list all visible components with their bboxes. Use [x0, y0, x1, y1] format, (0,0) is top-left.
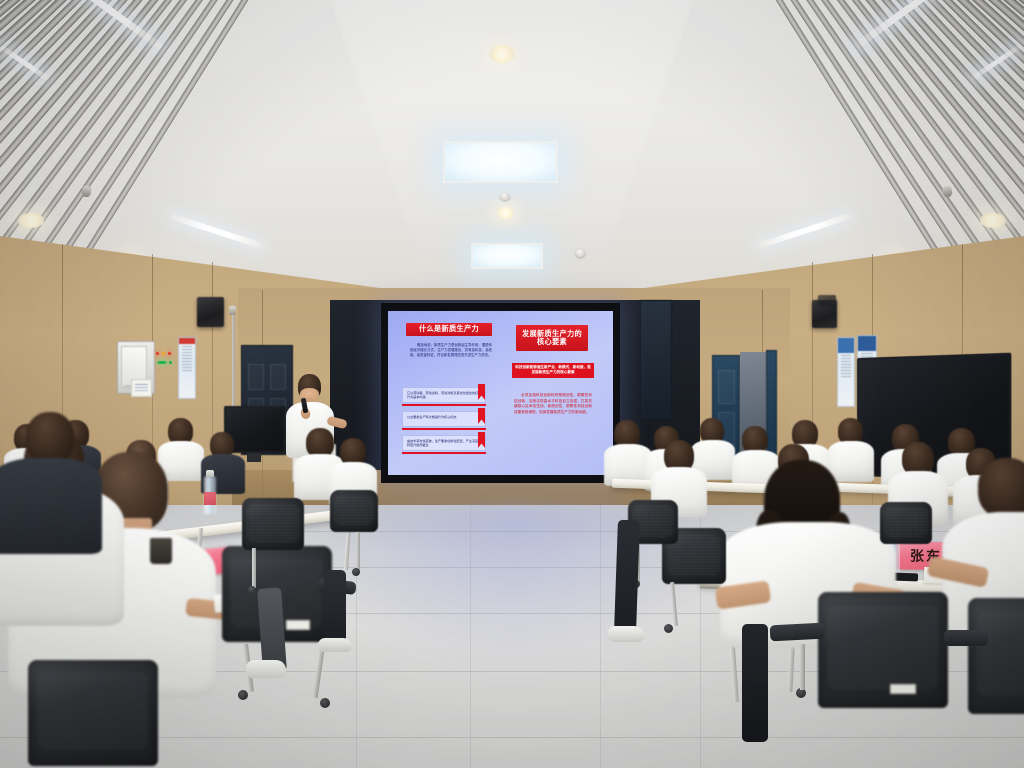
chair-right-5: [880, 502, 932, 546]
chair-leg: [356, 532, 360, 570]
projection-screen: 什么是新质生产力 概括地说，新质生产力是创新起主导作用，摆脱传统经济增长方式、生…: [381, 303, 620, 483]
slide-canvas: 什么是新质生产力 概括地说，新质生产力是创新起主导作用，摆脱传统经济增长方式、生…: [388, 311, 613, 475]
wall-speaker-right: [812, 300, 837, 328]
attendee-shoe: [246, 660, 286, 678]
attendee-right-row4-d: [742, 426, 768, 454]
wall-speaker-left: [197, 297, 224, 327]
smoke-detector-1: [500, 193, 510, 200]
attendee-leg: [742, 624, 768, 742]
attendee-left-row3-b: [306, 428, 334, 458]
slide-right-banner: 科技创新能够催生新产业、新模式、新动能，是发展新质生产力的核心要素: [512, 363, 594, 378]
indicator-green-2: [169, 361, 172, 364]
slide-right-title: 发展新质生产力的 核心要素: [516, 325, 588, 351]
slide-left-box-2-underline: [402, 428, 486, 430]
indicator-green: [157, 361, 167, 364]
wall-notice-board-right-1: [837, 337, 855, 407]
ceiling-panel-light-1: [443, 141, 558, 183]
slide-left-box-1-underline: [402, 404, 486, 406]
indicator-red: [156, 352, 159, 355]
chair-leg: [800, 644, 805, 690]
attendee-shoe: [318, 638, 352, 652]
attendee-left-third: [0, 412, 100, 542]
smoke-detector-2: [576, 249, 585, 257]
slide-left-title: 什么是新质生产力: [406, 323, 492, 336]
slide-left-box-3-underline: [402, 452, 486, 454]
attendee-leg: [324, 570, 346, 646]
attendee-left-row3-c: [340, 438, 366, 466]
attendee-right-row3-c: [902, 442, 934, 476]
indicator-amber: [162, 352, 165, 355]
chair-armrest: [944, 630, 988, 646]
chair-label: [890, 684, 916, 694]
attendee-left-row4-c: [168, 418, 193, 445]
wall-speaker-right-2: [818, 295, 836, 304]
chair-caster: [664, 624, 673, 633]
downlight-center-1: [489, 45, 515, 63]
security-camera-left: [229, 306, 236, 315]
ceiling: [0, 0, 1024, 300]
slide-left-paragraph: 概括地说，新质生产力是创新起主导作用，摆脱传统经济增长方式、生产力发展路径，具有…: [410, 343, 492, 358]
chair-left-4: [330, 490, 378, 534]
chair-label: [286, 620, 310, 630]
ceiling-panel-light-2: [471, 243, 543, 269]
chair-caster: [320, 698, 330, 708]
attendee-right-row4-f: [838, 418, 863, 445]
travel-mug-left: [150, 538, 172, 564]
chair-caster: [352, 568, 360, 576]
attendee-leg: [614, 520, 640, 633]
conference-room-photo: 什么是新质生产力 概括地说，新质生产力是创新起主导作用，摆脱传统经济增长方式、生…: [0, 0, 1024, 768]
chair-leg: [252, 548, 256, 588]
slide-left-box-2: 以全要素生产率大幅提升为核心标志: [402, 411, 486, 427]
chair-left-3: [242, 498, 304, 552]
downlight-center-2: [497, 207, 514, 219]
attendee-right-row4-c: [700, 418, 724, 444]
downlight-right-1: [980, 213, 1006, 228]
indicator-red-2: [168, 352, 171, 355]
ceiling-camera-right: [942, 185, 952, 197]
slide-left-box-1: 它以劳动者、劳动资料、劳动对象及其优化组合的跃升为基本内涵: [402, 387, 486, 403]
attendee-shoe: [608, 626, 644, 642]
fire-alarm-indicator-cluster: [155, 351, 175, 373]
slide-right-paragraph: 必须加强科技创新特别是原创性、颠覆性科技创新，加快实现高水平科技自立自强，打赢关…: [514, 393, 592, 415]
door-dark-right[interactable]: [640, 300, 672, 420]
chair-right-2: [968, 598, 1024, 718]
chair-armrest: [770, 623, 825, 642]
wall-notice-card-left: [131, 379, 152, 397]
wall-notice-board-left: [178, 337, 196, 399]
chair-caster: [238, 690, 248, 700]
chair-caster: [248, 586, 256, 594]
chair-left-2: [28, 660, 158, 768]
chair-right-1: [818, 592, 948, 712]
attendee-right-row3-a: [664, 440, 694, 472]
slide-left-box-3: 由技术革命性突破、生产要素创新性配置、产业深度转型升级而催生: [402, 435, 486, 451]
downlight-left-1: [18, 213, 44, 228]
attendee-right-row4-a: [614, 420, 640, 448]
tv-stand-left: [247, 453, 261, 462]
